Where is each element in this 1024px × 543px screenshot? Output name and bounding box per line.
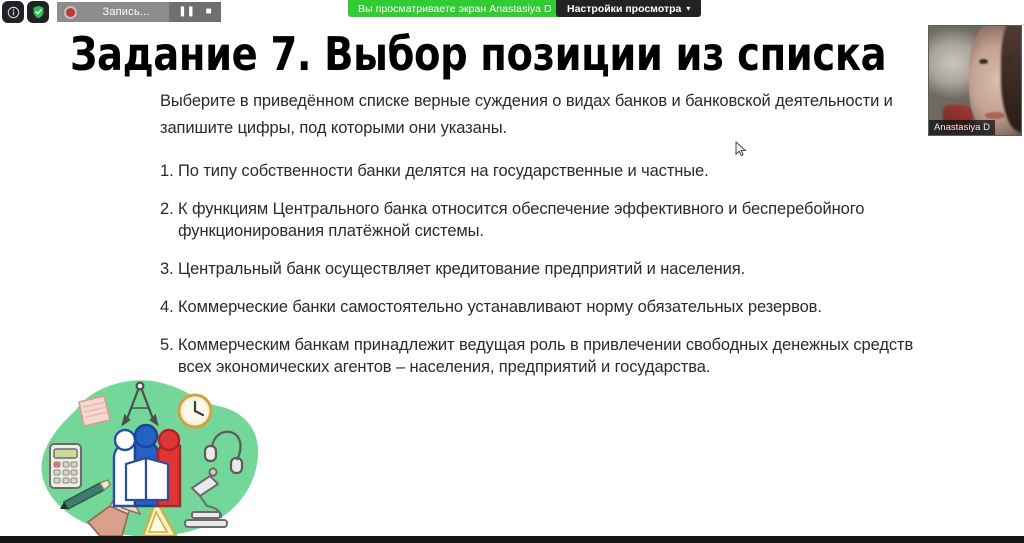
list-item: 1. По типу собственности банки делятся н… [160,160,950,182]
clock-icon [179,395,211,427]
statement-list: 1. По типу собственности банки делятся н… [160,160,950,394]
view-settings-label: Настройки просмотра [567,3,681,15]
record-dot-glyph [66,8,75,17]
tricolor-people-logo [114,425,180,506]
list-item-number: 5. [160,334,176,356]
record-dot-icon [57,8,83,17]
list-item: 4. Коммерческие банки самостоятельно уст… [160,296,950,318]
view-settings-button[interactable]: Настройки просмотра ▾ [556,0,701,17]
education-supplies-illustration [22,372,272,536]
calculator-icon [50,444,81,488]
list-item-text: Центральный банк осуществляет кредитован… [178,260,745,278]
list-item-number: 3. [160,258,176,280]
shield-check-icon[interactable] [27,1,49,23]
shield-glyph [32,5,45,19]
screen-share-view: Задание 7. Выбор позиции из списка Выбер… [0,0,1024,543]
participant-video-tile[interactable]: Anastasiya D [928,25,1022,136]
info-circle-icon[interactable] [2,1,24,23]
participant-eye-right [1005,56,1014,61]
list-item-text: Коммерческим банкам принадлежит ведущая … [178,336,913,376]
recording-controls: ❚❚ ■ [169,2,221,22]
recording-status-bar: Запись... ❚❚ ■ [57,2,221,22]
list-item: 2. К функциям Центрального банка относит… [160,198,950,242]
screen-share-notice: Вы просматриваете экран Anastasiya D [348,0,562,17]
list-item-number: 2. [160,198,176,220]
page-title: Задание 7. Выбор позиции из списка [70,27,879,81]
list-item: 5. Коммерческим банкам принадлежит ведущ… [160,334,950,378]
participant-mouth [985,112,1005,119]
stop-recording-button[interactable]: ■ [206,7,212,17]
list-item-text: Коммерческие банки самостоятельно устана… [178,298,822,316]
participant-name-badge: Anastasiya D [929,120,995,135]
screen-share-notice-label: Вы просматриваете экран Anastasiya D [358,3,552,15]
recording-status-label: Запись... [83,6,169,18]
list-item: 3. Центральный банк осуществляет кредито… [160,258,950,280]
mouse-pointer [735,141,747,157]
paper-sheet-icon [79,396,110,426]
pause-recording-button[interactable]: ❚❚ [178,7,195,17]
chevron-down-icon: ▾ [686,5,690,13]
participant-eye-left [979,59,988,64]
presentation-slide: Задание 7. Выбор позиции из списка Выбер… [0,0,1024,536]
list-item-text: К функциям Центрального банка относится … [178,200,864,240]
participant-name-label: Anastasiya D [934,122,990,133]
list-item-text: По типу собственности банки делятся на г… [178,162,709,180]
info-glyph [7,6,20,19]
list-item-number: 4. [160,296,176,318]
list-item-number: 1. [160,160,176,182]
task-instructions: Выберите в приведённом списке верные суж… [160,88,922,142]
bottom-letterbox [0,536,1024,543]
